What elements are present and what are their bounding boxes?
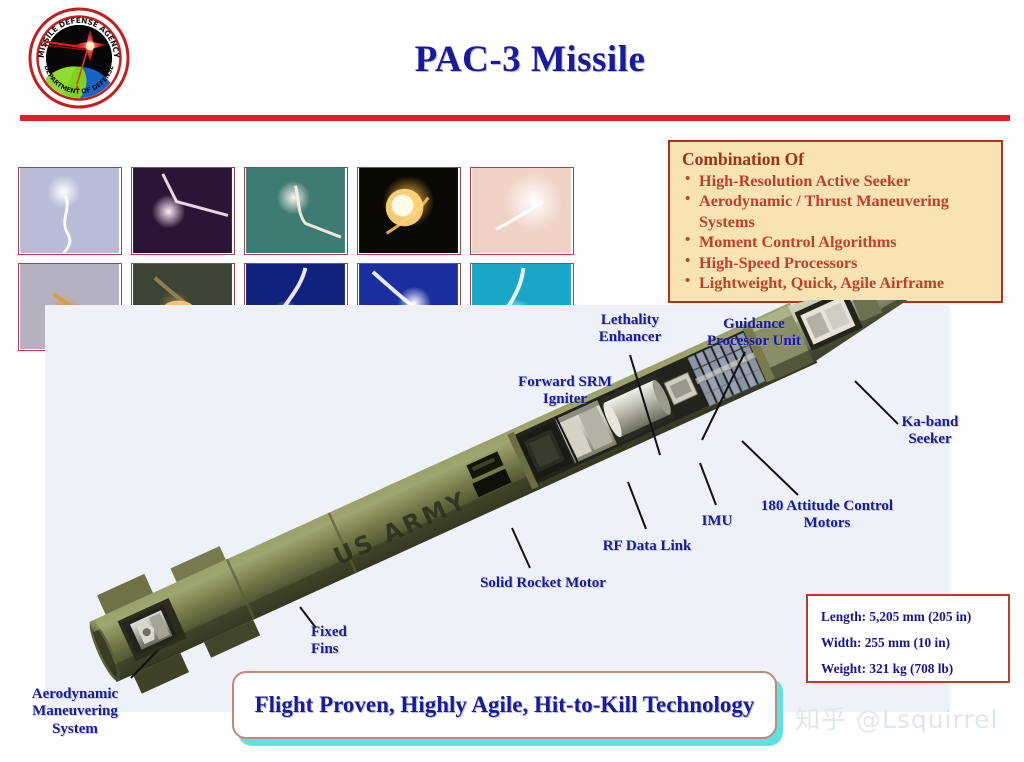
photo-intercept-flash-night (131, 167, 235, 255)
photo-intercept-burst-teal (244, 167, 348, 255)
callout-guidance-processor-unit: Guidance Processor Unit (690, 316, 818, 351)
callout-lethality-enhancer: Lethality Enhancer (580, 312, 680, 347)
callout-imu: IMU (688, 513, 746, 530)
spec-length: Length: 5,205 mm (205 in) (821, 604, 1008, 630)
watermark: 知乎 @Lsquirrel (795, 700, 998, 736)
callout-fixed-fins: Fixed Fins (311, 624, 371, 659)
slide-root: MISSILE DEFENSE AGENCY DEPARTMENT OF DEF… (0, 0, 1024, 762)
spec-width: Width: 255 mm (10 in) (821, 630, 1008, 656)
photo-intercept-flash-daylight (18, 167, 122, 255)
callout-attitude-control-motors: 180 Attitude Control Motors (744, 498, 910, 533)
callout-aerodynamic-maneuvering-system: Aerodynamic Maneuvering System (12, 686, 138, 738)
spec-weight: Weight: 321 kg (708 lb) (821, 656, 1008, 682)
specifications-box: Length: 5,205 mm (205 in) Width: 255 mm … (806, 594, 1010, 683)
combination-bullet: High-Resolution Active Seeker (682, 171, 991, 192)
combination-heading: Combination Of (682, 149, 991, 170)
photo-intercept-glow-pale (470, 167, 574, 255)
combination-of-box: Combination Of High-Resolution Active Se… (668, 140, 1003, 303)
header-divider (20, 115, 1010, 121)
page-title: PAC-3 Missile (300, 38, 760, 81)
combination-bullet: Aerodynamic / Thrust Maneuvering Systems (682, 191, 991, 232)
combination-bullet: High-Speed Processors (682, 253, 991, 274)
combination-bullet: Moment Control Algorithms (682, 232, 991, 253)
callout-solid-rocket-motor: Solid Rocket Motor (463, 575, 623, 592)
combination-bullet: Lightweight, Quick, Agile Airframe (682, 273, 991, 294)
callout-forward-srm-igniter: Forward SRM Igniter (500, 374, 630, 409)
callout-ka-band-seeker: Ka-band Seeker (888, 414, 972, 449)
callout-rf-data-link: RF Data Link (586, 538, 708, 555)
photo-intercept-fireball-black (357, 167, 461, 255)
tagline-banner: Flight Proven, Highly Agile, Hit-to-Kill… (232, 671, 777, 739)
combination-list: High-Resolution Active SeekerAerodynamic… (682, 171, 991, 294)
mda-seal-logo: MISSILE DEFENSE AGENCY DEPARTMENT OF DEF… (20, 6, 138, 110)
tagline-text: Flight Proven, Highly Agile, Hit-to-Kill… (255, 691, 755, 719)
